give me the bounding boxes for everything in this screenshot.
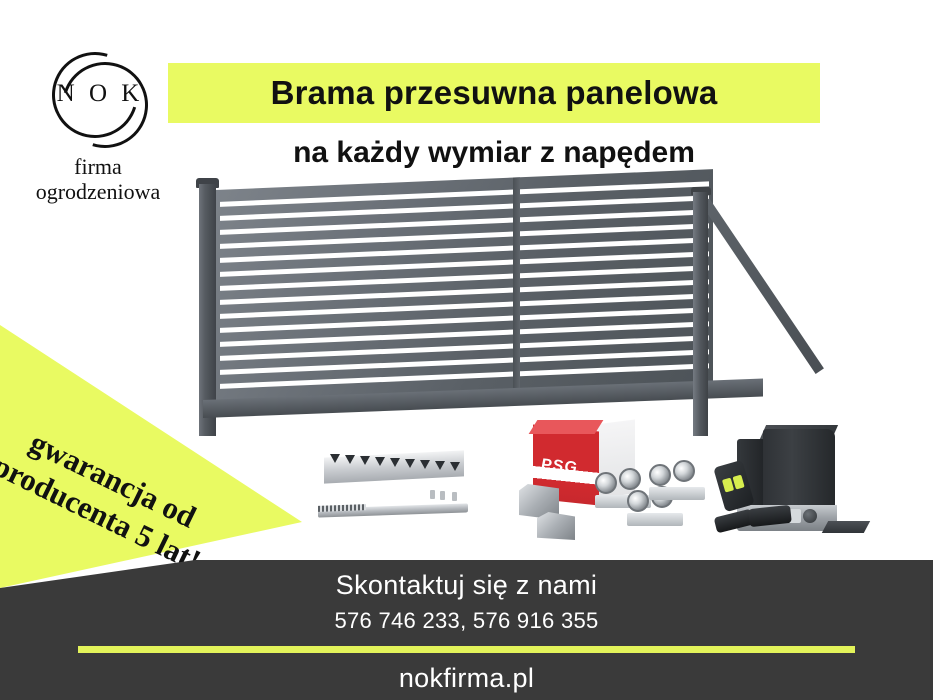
roller-carriage xyxy=(647,460,709,500)
brand-tagline-line-2: ogrodzeniowa xyxy=(18,179,178,204)
broken-ring-logo-icon: N O K xyxy=(50,52,146,148)
gate-panel-divider xyxy=(513,177,520,389)
psg-brand-label: PSG xyxy=(541,456,578,478)
gear-rack-image xyxy=(318,448,478,530)
footer: Skontaktuj się z nami 576 746 233, 576 9… xyxy=(0,560,933,700)
motor-body xyxy=(763,429,835,507)
rack-screw xyxy=(452,492,457,501)
rack-screw xyxy=(430,490,435,499)
gate-post-right xyxy=(693,192,708,436)
page-title: Brama przesuwna panelowa xyxy=(168,63,820,123)
gate-panel xyxy=(216,169,713,402)
brand-tagline-line-1: firma xyxy=(18,154,178,179)
rack-screw xyxy=(440,491,445,500)
sliding-gate-image xyxy=(193,178,803,443)
mounting-bracket xyxy=(537,512,575,540)
brand-logo: N O K firma ogrodzeniowa xyxy=(18,52,178,205)
motor-release-knob xyxy=(803,509,817,523)
logo-letters: N O K xyxy=(50,80,146,108)
contact-heading: Skontaktuj się z nami xyxy=(0,570,933,601)
advertisement-poster: N O K firma ogrodzeniowa Brama przesuwna… xyxy=(0,0,933,700)
gate-post-left xyxy=(199,184,216,436)
website-link[interactable]: nokfirma.pl xyxy=(0,663,933,694)
psg-hardware-image: PSG xyxy=(515,420,710,545)
footer-divider xyxy=(78,646,855,653)
psg-box-top xyxy=(529,420,604,434)
motor-mounting-foot xyxy=(822,521,870,533)
page-subtitle: na każdy wymiar z napędem xyxy=(168,136,820,170)
contact-phone-numbers[interactable]: 576 746 233, 576 916 355 xyxy=(0,608,933,634)
gate-diagonal-brace xyxy=(701,198,824,374)
gate-motor-image xyxy=(715,425,890,545)
